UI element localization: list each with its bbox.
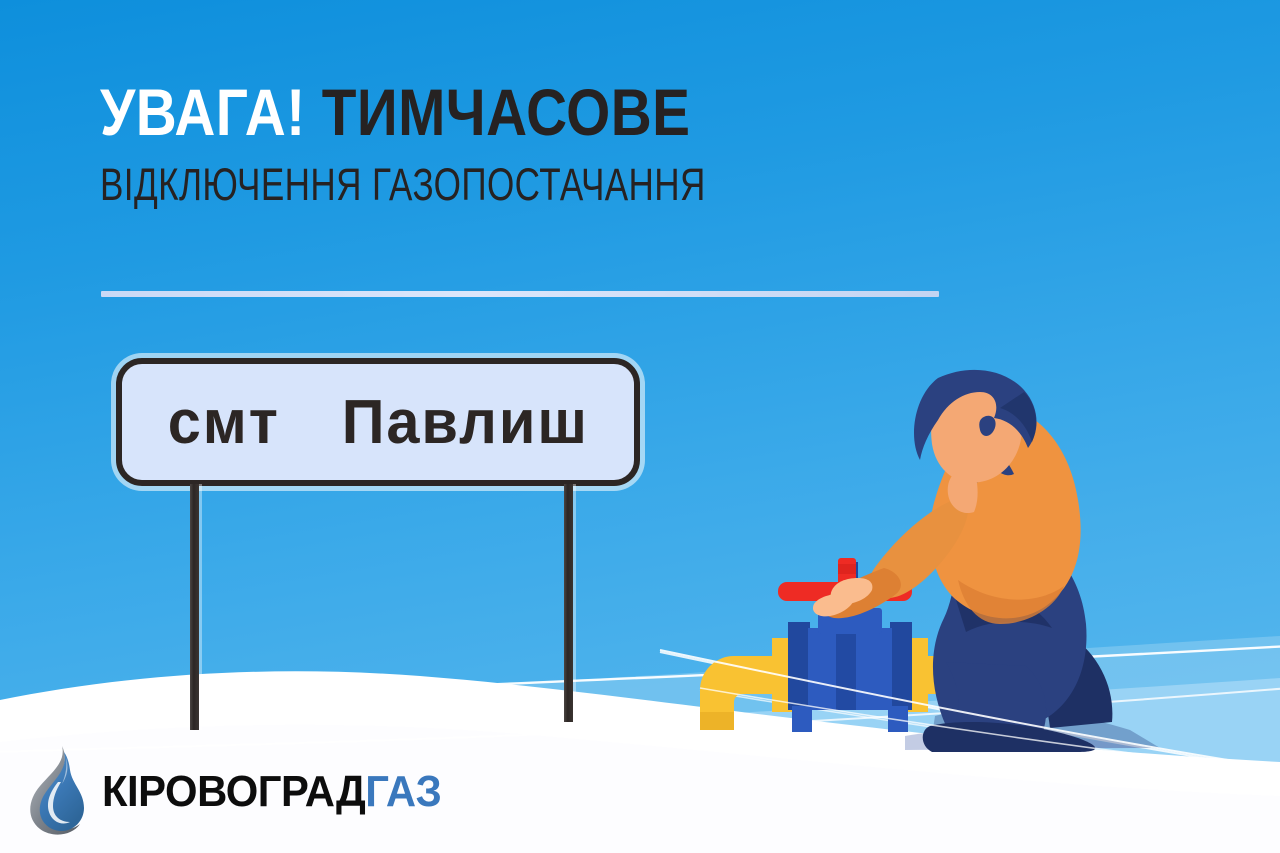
alert-word: УВАГА!: [100, 75, 306, 149]
headline-line-1: УВАГА! ТИМЧАСОВЕ: [100, 78, 874, 146]
road-sign-panel: смт Павлиш: [116, 358, 640, 486]
road-sign-settlement: Павлиш: [341, 388, 588, 457]
poster-canvas: УВАГА! ТИМЧАСОВЕ ВІДКЛЮЧЕННЯ ГАЗОПОСТАЧА…: [0, 0, 1280, 853]
headline-line-2: ВІДКЛЮЧЕННЯ ГАЗОПОСТАЧАННЯ: [100, 162, 802, 208]
road-sign: смт Павлиш: [116, 358, 640, 486]
road-sign-post-right: [564, 484, 573, 722]
logo-wordmark: КІРОВОГРАДГАЗ: [102, 767, 441, 817]
road-sign-post-left: [190, 484, 199, 730]
road-sign-prefix: смт: [167, 388, 279, 457]
logo-name-blue: ГАЗ: [365, 767, 441, 816]
headline-divider: [101, 291, 939, 297]
road-sign-text: смт Павлиш: [167, 387, 588, 458]
headline-line-1-rest: ТИМЧАСОВЕ: [322, 75, 691, 149]
company-logo: КІРОВОГРАДГАЗ: [22, 744, 459, 840]
flame-droplet-icon: [22, 744, 96, 840]
headline-block: УВАГА! ТИМЧАСОВЕ ВІДКЛЮЧЕННЯ ГАЗОПОСТАЧА…: [100, 78, 1000, 208]
logo-name-dark: КІРОВОГРАД: [102, 767, 365, 816]
